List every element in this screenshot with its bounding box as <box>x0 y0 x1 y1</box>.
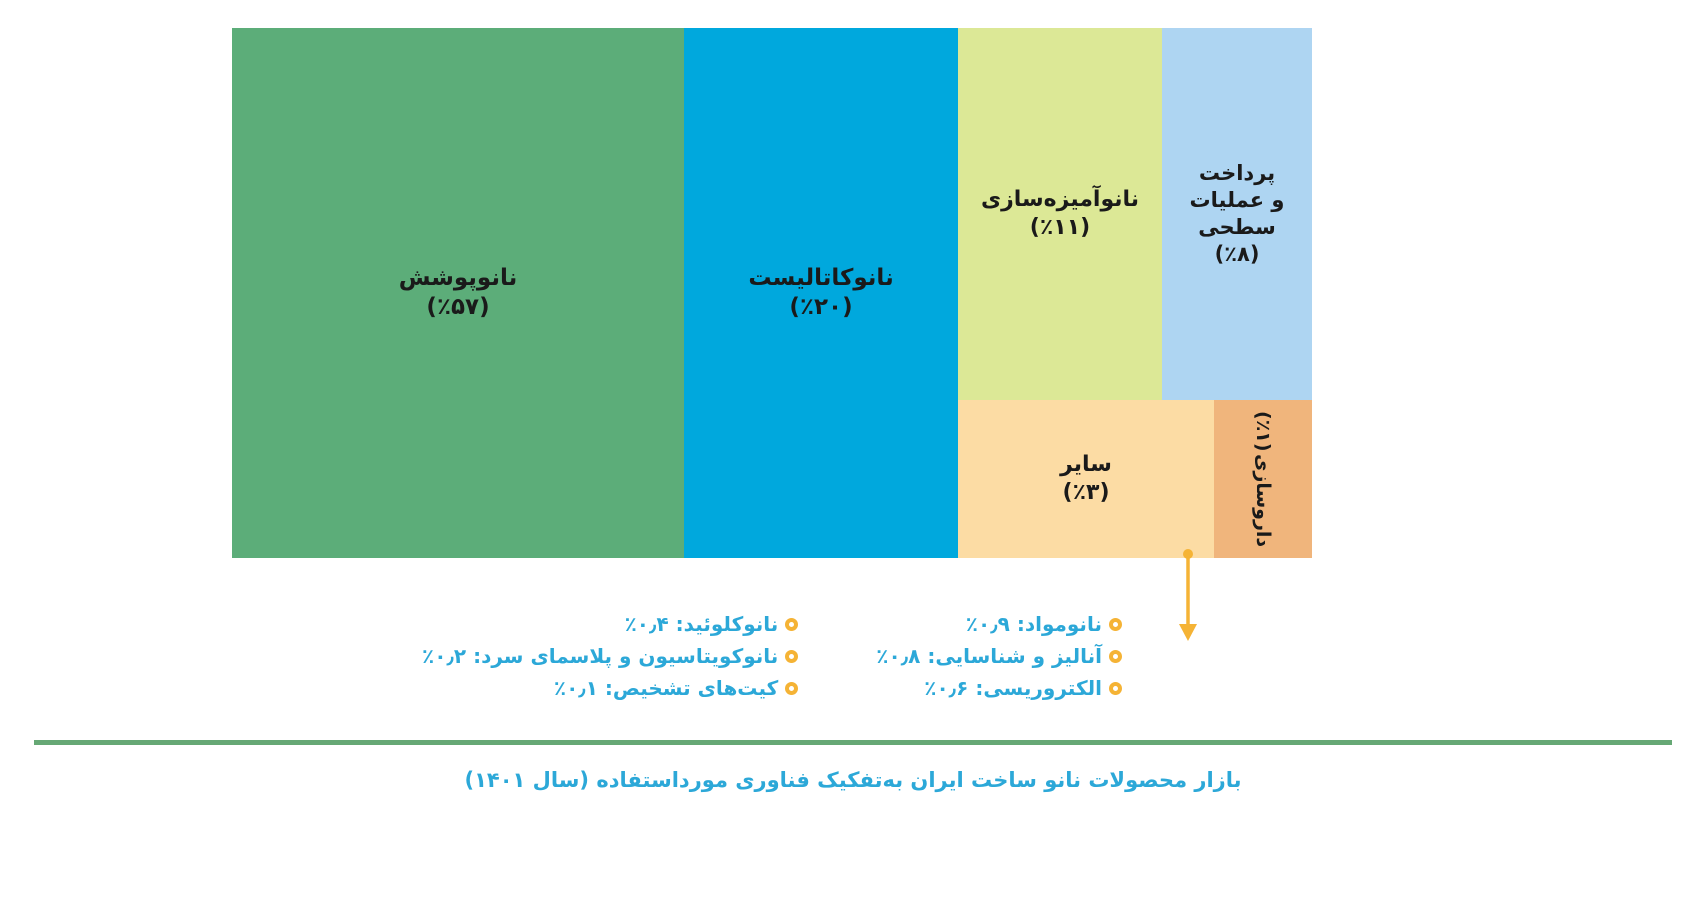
treemap-cell-surface-finishing[interactable]: پرداخت و عملیات سطحی (٪۸) <box>1162 28 1312 400</box>
treemap-cell-label-line1: پرداخت <box>1199 160 1275 187</box>
treemap-cell-label: نانوکاتالیست <box>748 264 893 293</box>
treemap-cell-nanocatalyst[interactable]: نانوکاتالیست (٪۲۰) <box>684 28 958 558</box>
legend-bullet-icon <box>785 650 798 663</box>
legend-item-label: نانوکلوئید: ۰٫۴٪ <box>625 612 779 636</box>
treemap-cell-percent: (٪۲۰) <box>789 293 852 322</box>
treemap-cell-label: داروسازی <box>1251 454 1275 547</box>
legend-item-label: آنالیز و شناسایی: ۰٫۸٪ <box>876 644 1102 668</box>
treemap-cell-pharma-inner: داروسازی (٪۱) <box>1251 411 1275 547</box>
chart-page: نانوپوشش (٪۵۷) نانوکاتالیست (٪۲۰) نانوآم… <box>0 0 1706 901</box>
legend-item[interactable]: الکتروریسی: ۰٫۶٪ <box>876 676 1122 700</box>
treemap-cell-other[interactable]: سایر (٪۳) <box>958 400 1214 558</box>
treemap-cell-nanocomposite[interactable]: نانوآمیزه‌سازی (٪۱۱) <box>958 28 1162 400</box>
chart-caption: بازار محصولات نانو ساخت ایران به‌تفکیک ف… <box>0 768 1706 792</box>
legend-bullet-icon <box>1109 618 1122 631</box>
treemap-cell-percent: (٪۵۷) <box>426 293 489 322</box>
treemap-cell-percent: (٪۸) <box>1215 241 1260 268</box>
treemap-cell-percent: (٪۱) <box>1251 411 1275 452</box>
legend-item[interactable]: کیت‌های تشخیص: ۰٫۱٪ <box>422 676 798 700</box>
legend-item[interactable]: نانومواد: ۰٫۹٪ <box>876 612 1122 636</box>
treemap-cell-percent: (٪۱۱) <box>1030 214 1090 242</box>
treemap-cell-label: نانوپوشش <box>399 264 518 293</box>
treemap-cell-percent: (٪۳) <box>1063 479 1110 507</box>
legend-bullet-icon <box>785 618 798 631</box>
legend-bullet-icon <box>785 682 798 695</box>
legend-item-label: نانوکویتاسیون و پلاسمای سرد: ۰٫۲٪ <box>422 644 778 668</box>
legend-column-left: نانوکلوئید: ۰٫۴٪ نانوکویتاسیون و پلاسمای… <box>422 612 798 722</box>
legend-item-label: کیت‌های تشخیص: ۰٫۱٪ <box>554 676 778 700</box>
treemap-cell-nanocoating[interactable]: نانوپوشش (٪۵۷) <box>232 28 684 558</box>
treemap-cell-label: سایر <box>1060 451 1112 479</box>
legend-item[interactable]: نانوکویتاسیون و پلاسمای سرد: ۰٫۲٪ <box>422 644 798 668</box>
treemap-chart: نانوپوشش (٪۵۷) نانوکاتالیست (٪۲۰) نانوآم… <box>232 28 1312 558</box>
treemap-cell-label: نانوآمیزه‌سازی <box>981 186 1139 214</box>
legend-item-label: نانومواد: ۰٫۹٪ <box>966 612 1102 636</box>
horizontal-divider <box>34 740 1672 745</box>
treemap-cell-label-line2: و عملیات <box>1190 187 1285 214</box>
treemap-cell-label-line3: سطحی <box>1198 214 1276 241</box>
legend-bullet-icon <box>1109 682 1122 695</box>
legend: نانومواد: ۰٫۹٪ آنالیز و شناسایی: ۰٫۸٪ ال… <box>232 612 1312 722</box>
legend-item[interactable]: نانوکلوئید: ۰٫۴٪ <box>422 612 798 636</box>
legend-bullet-icon <box>1109 650 1122 663</box>
legend-column-right: نانومواد: ۰٫۹٪ آنالیز و شناسایی: ۰٫۸٪ ال… <box>876 612 1122 722</box>
treemap-cell-pharmaceutical[interactable]: داروسازی (٪۱) <box>1214 400 1312 558</box>
legend-item[interactable]: آنالیز و شناسایی: ۰٫۸٪ <box>876 644 1122 668</box>
legend-item-label: الکتروریسی: ۰٫۶٪ <box>924 676 1102 700</box>
